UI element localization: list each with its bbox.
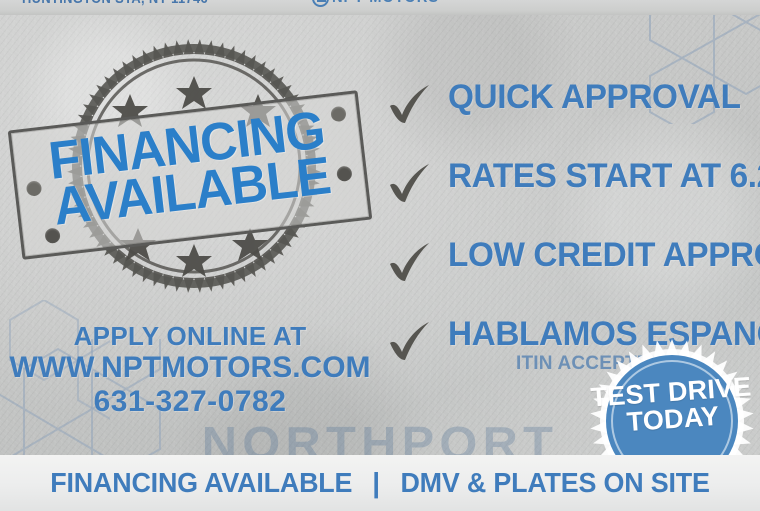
checkmark-icon <box>386 240 434 284</box>
checkmark-icon <box>386 319 434 363</box>
banner-dmv-text: DMV & PLATES ON SITE <box>401 467 710 499</box>
dealership-address: HUNTINGTON STA, NY 11746 <box>22 0 208 7</box>
phone-number[interactable]: 631-327-0782 <box>0 385 380 419</box>
logo-wordmark: NPT MOTORS <box>332 0 439 7</box>
advertisement-canvas: NORTHPORT <box>0 0 760 511</box>
checklist-label: RATES START AT 6.2% <box>448 157 760 196</box>
apply-online-label: APPLY ONLINE AT <box>0 322 380 351</box>
contact-block: APPLY ONLINE AT WWW.NPTMOTORS.COM 631-32… <box>0 322 380 418</box>
checklist-item-quick-approval: QUICK APPROVAL <box>386 78 760 157</box>
steering-wheel-icon <box>312 0 329 7</box>
banner-separator: | <box>372 467 380 499</box>
bottom-banner: FINANCING AVAILABLE | DMV & PLATES ON SI… <box>0 455 760 511</box>
dealership-logo[interactable]: NPT MOTORS <box>312 0 448 7</box>
checklist-item-low-credit: LOW CREDIT APPROVED <box>386 236 760 315</box>
website-url[interactable]: WWW.NPTMOTORS.COM <box>0 351 380 385</box>
checkmark-icon <box>386 82 434 126</box>
checklist-label: LOW CREDIT APPROVED <box>448 236 760 275</box>
banner-financing-text: FINANCING AVAILABLE <box>50 467 352 499</box>
financing-available-stamp: FINANCING AVAILABLE <box>8 26 368 308</box>
checklist-label: QUICK APPROVAL <box>448 78 741 117</box>
header-strip: HUNTINGTON STA, NY 11746 NPT MOTORS <box>0 0 760 15</box>
checkmark-icon <box>386 161 434 205</box>
checklist-item-rates: RATES START AT 6.2% <box>386 157 760 236</box>
